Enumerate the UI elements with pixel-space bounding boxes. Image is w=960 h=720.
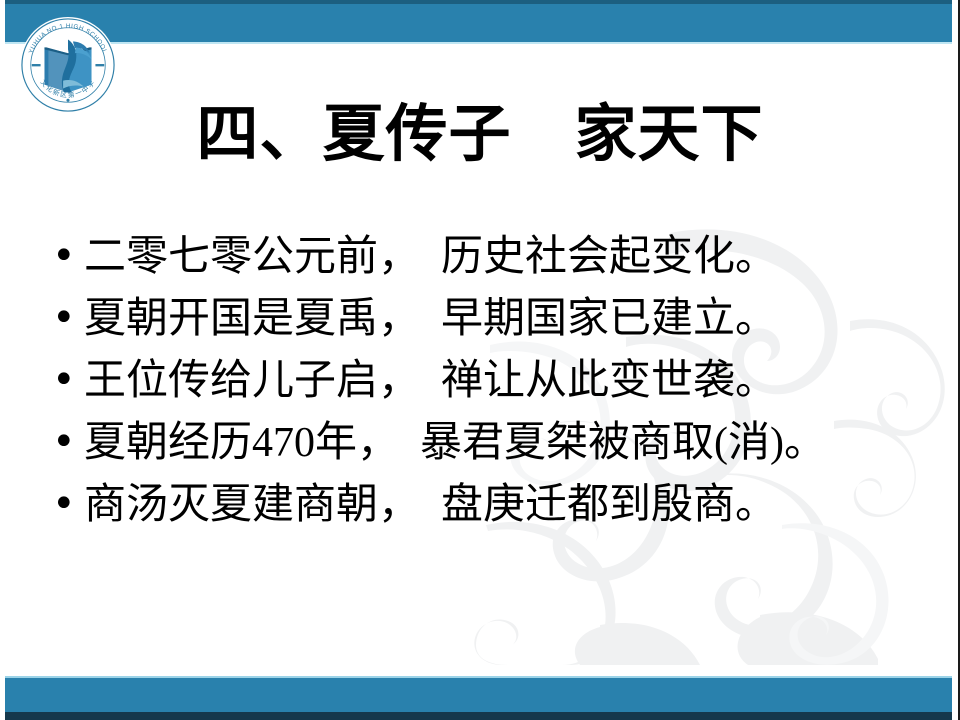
list-item: • 王位传给儿子启， 禅让从此变世袭。 xyxy=(52,352,932,414)
school-logo-icon: YUHUA NO.1 HIGH SCHOOL 文化新区第一中学 xyxy=(19,16,117,114)
bullet-dot-icon: • xyxy=(52,290,84,346)
bullet-dot-icon: • xyxy=(52,352,84,408)
bullet-dot-icon: • xyxy=(52,414,84,470)
list-item-text: 夏朝开国是夏禹， 早期国家已建立。 xyxy=(84,290,932,348)
list-item: • 二零七零公元前， 历史社会起变化。 xyxy=(52,228,932,290)
list-item-text: 夏朝经历470年， 暴君夏桀被商取(消)。 xyxy=(84,414,932,472)
bullet-dot-icon: • xyxy=(52,476,84,532)
header-band-bottom-edge xyxy=(5,42,952,44)
bullet-list: • 二零七零公元前， 历史社会起变化。 • 夏朝开国是夏禹， 早期国家已建立。 … xyxy=(52,228,932,538)
footer-band-bottom-edge xyxy=(5,712,952,720)
bullet-dot-icon: • xyxy=(52,228,84,284)
list-item-text: 王位传给儿子启， 禅让从此变世袭。 xyxy=(84,352,932,410)
footer-band xyxy=(5,678,952,714)
header-band xyxy=(5,4,952,42)
list-item-text: 商汤灭夏建商朝， 盘庚迁都到殷商。 xyxy=(84,476,932,534)
list-item: • 商汤灭夏建商朝， 盘庚迁都到殷商。 xyxy=(52,476,932,538)
list-item: • 夏朝经历470年， 暴君夏桀被商取(消)。 xyxy=(52,414,932,476)
slide-canvas: YUHUA NO.1 HIGH SCHOOL 文化新区第一中学 四、夏传子 家天… xyxy=(0,0,960,720)
list-item: • 夏朝开国是夏禹， 早期国家已建立。 xyxy=(52,290,932,352)
list-item-text: 二零七零公元前， 历史社会起变化。 xyxy=(84,228,932,286)
page-title: 四、夏传子 家天下 xyxy=(0,98,960,172)
